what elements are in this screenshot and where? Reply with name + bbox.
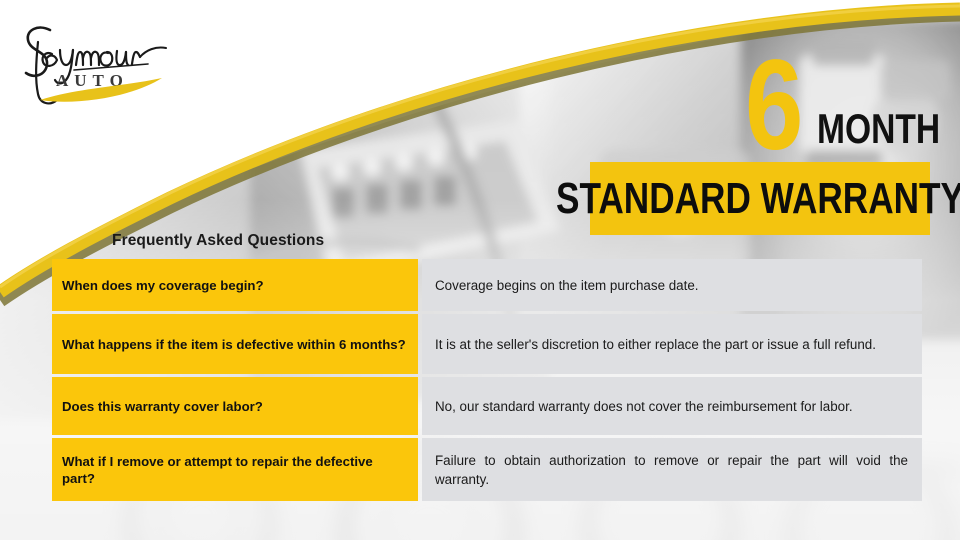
table-row: What if I remove or attempt to repair th… (52, 438, 922, 501)
faq-question-text: What if I remove or attempt to repair th… (62, 453, 408, 487)
faq-table: When does my coverage begin? Coverage be… (52, 259, 922, 501)
standard-warranty-text: STANDARD WARRANTY (556, 177, 960, 221)
faq-question-text: What happens if the item is defective wi… (62, 336, 406, 353)
warranty-months-number: 6 (745, 42, 801, 170)
faq-question-cell: Does this warranty cover labor? (52, 377, 418, 435)
table-row: What happens if the item is defective wi… (52, 314, 922, 374)
faq-answer-cell: Failure to obtain authorization to remov… (422, 438, 922, 501)
faq-question-text: Does this warranty cover labor? (62, 398, 263, 415)
faq-question-cell: What happens if the item is defective wi… (52, 314, 418, 374)
faq-question-cell: When does my coverage begin? (52, 259, 418, 311)
table-row: When does my coverage begin? Coverage be… (52, 259, 922, 311)
faq-question-cell: What if I remove or attempt to repair th… (52, 438, 418, 501)
warranty-month-label: MONTH (817, 108, 940, 150)
table-row: Does this warranty cover labor? No, our … (52, 377, 922, 435)
faq-answer-text: Failure to obtain authorization to remov… (435, 451, 908, 489)
seymour-auto-logo: AUTO (16, 18, 196, 113)
faq-heading: Frequently Asked Questions (112, 232, 324, 250)
warranty-duration-headline: 6 MONTH (745, 54, 940, 158)
faq-answer-cell: It is at the seller's discretion to eith… (422, 314, 922, 374)
faq-answer-text: Coverage begins on the item purchase dat… (435, 276, 908, 295)
slide-canvas: AUTO 6 MONTH STANDARD WARRANTY Frequentl… (0, 0, 960, 540)
standard-warranty-banner: STANDARD WARRANTY (590, 162, 930, 235)
faq-answer-cell: No, our standard warranty does not cover… (422, 377, 922, 435)
faq-answer-cell: Coverage begins on the item purchase dat… (422, 259, 922, 311)
faq-answer-text: It is at the seller's discretion to eith… (435, 335, 908, 354)
faq-answer-text: No, our standard warranty does not cover… (435, 397, 908, 416)
faq-question-text: When does my coverage begin? (62, 277, 264, 294)
